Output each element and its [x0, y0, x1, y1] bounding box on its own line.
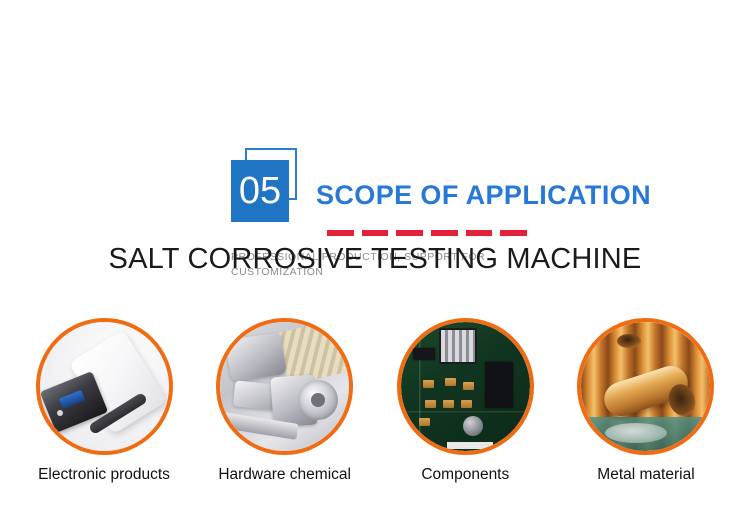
- section-title: SCOPE OF APPLICATION: [316, 180, 651, 211]
- application-card-hardware-chemical: Hardware chemical: [197, 318, 373, 484]
- divider-dash: [466, 230, 493, 236]
- divider-dash: [431, 230, 458, 236]
- copper-tubes-photo-icon: [581, 322, 710, 451]
- circle-image-metal-material: [577, 318, 714, 455]
- electronics-photo-icon: [40, 322, 169, 451]
- circle-image-hardware-chemical: [216, 318, 353, 455]
- circuit-board-photo-icon: [401, 322, 530, 451]
- application-card-metal-material: Metal material: [558, 318, 734, 484]
- card-label: Electronic products: [38, 466, 170, 484]
- red-dashed-divider: [327, 230, 527, 236]
- card-label: Metal material: [597, 466, 694, 484]
- divider-dash: [396, 230, 423, 236]
- divider-dash: [500, 230, 527, 236]
- circle-image-components: [397, 318, 534, 455]
- circle-image-electronic-products: [36, 318, 173, 455]
- page-title: SALT CORROSIVE TESTING MACHINE: [0, 243, 750, 276]
- divider-dash: [327, 230, 354, 236]
- application-card-row: Electronic products Hardware chemical: [16, 318, 734, 498]
- application-card-electronic-products: Electronic products: [16, 318, 192, 484]
- hardware-parts-photo-icon: [220, 322, 349, 451]
- card-label: Hardware chemical: [218, 466, 351, 484]
- section-header: 05 SCOPE OF APPLICATION PROFESSIONAL PRO…: [0, 70, 750, 220]
- slide-root: 05 SCOPE OF APPLICATION PROFESSIONAL PRO…: [0, 0, 750, 526]
- section-number-badge: 05: [231, 148, 299, 226]
- card-label: Components: [421, 466, 509, 484]
- application-card-components: Components: [377, 318, 553, 484]
- badge-number-text: 05: [231, 160, 289, 222]
- divider-dash: [362, 230, 389, 236]
